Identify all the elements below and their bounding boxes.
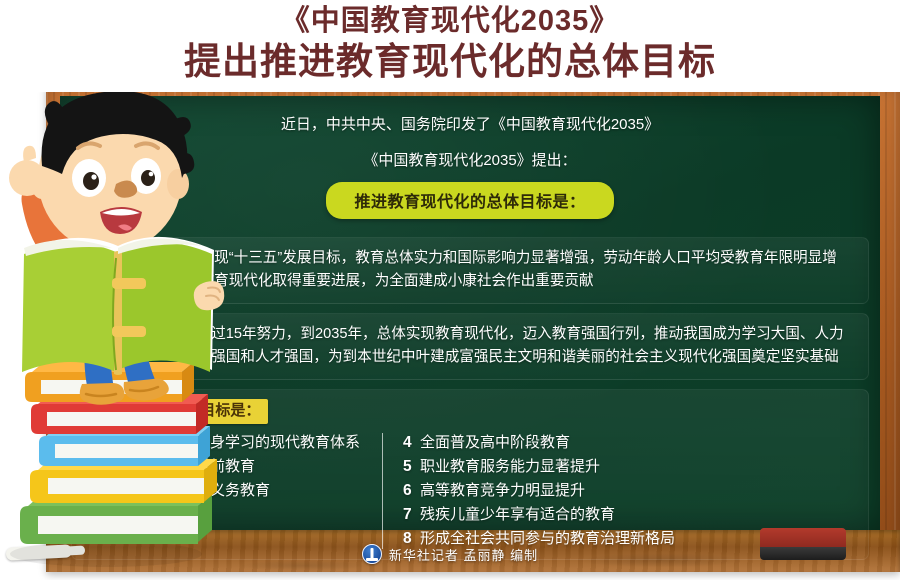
- title-line-1: 《中国教育现代化2035》: [281, 3, 620, 39]
- boy-open-book: [22, 237, 224, 375]
- xinhua-logo-icon: [362, 544, 382, 564]
- infographic-root: 近日，中共中央、国务院印发了《中国教育现代化2035》 《中国教育现代化2035…: [0, 0, 900, 580]
- goal-item: 6 高等教育竞争力明显提升: [403, 479, 856, 503]
- overall-goal-pill: 推进教育现代化的总体目标是：: [326, 182, 613, 219]
- credit-text: 新华社记者 孟丽静 编制: [389, 545, 538, 564]
- goal-item: 7 残疾儿童少年享有适合的教育: [403, 503, 856, 527]
- goal-item-label: 残疾儿童少年享有适合的教育: [420, 503, 615, 527]
- goal-block-2035-text: 再经过15年努力，到2035年，总体实现教育现代化，迈入教育强国行列，推动我国成…: [182, 326, 844, 365]
- goal-column-divider: [382, 433, 383, 549]
- student-illustration: [0, 26, 234, 580]
- goal-item-label: 职业教育服务能力显著提升: [420, 455, 600, 479]
- goal-item: 5 职业教育服务能力显著提升: [403, 455, 856, 479]
- title-line-2: 提出推进教育现代化的总体目标: [184, 39, 716, 85]
- goal-item-number: 4: [403, 431, 420, 455]
- goal-item-number: 5: [403, 455, 420, 479]
- goal-item-number: 6: [403, 479, 420, 503]
- title-area: 《中国教育现代化2035》 提出推进教育现代化的总体目标: [0, 0, 900, 92]
- goal-block-2020-text: 全面实现“十三五”发展目标，教育总体实力和国际影响力显著增强，劳动年龄人口平均受…: [170, 250, 836, 289]
- goal-item-label: 高等教育竞争力明显提升: [420, 479, 585, 503]
- goal-item: 4 全面普及高中阶段教育: [403, 431, 856, 455]
- goal-item-number: 7: [403, 503, 420, 527]
- goal-item-label: 全面普及高中阶段教育: [420, 431, 570, 455]
